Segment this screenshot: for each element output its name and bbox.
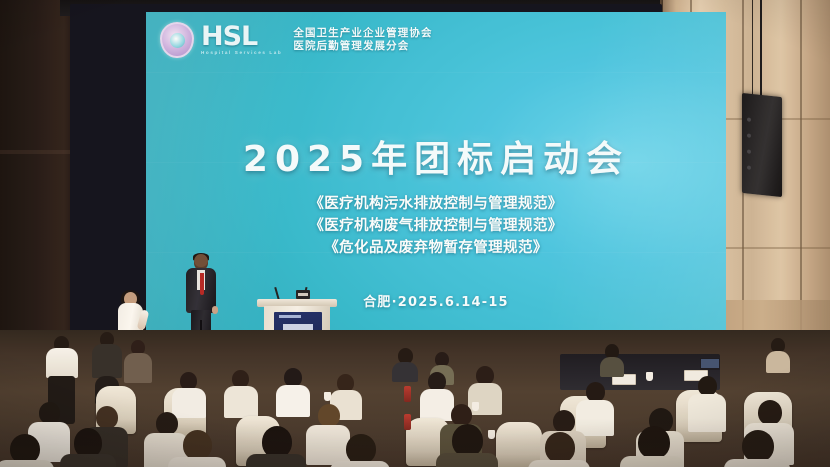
- association-line-2: 医院后勤管理发展分会: [293, 40, 432, 53]
- led-screen-frame: HSL Hospital Services Lab 全国卫生产业企业管理协会 医…: [70, 4, 662, 344]
- left-wall-sheen: [0, 150, 78, 154]
- audience-member: [436, 424, 498, 467]
- water-bottle: [404, 414, 411, 430]
- torso: [92, 344, 122, 378]
- head: [758, 400, 782, 425]
- head: [586, 382, 605, 402]
- head: [451, 404, 472, 426]
- association-line-1: 全国卫生产业企业管理协会: [293, 27, 432, 40]
- head: [553, 410, 575, 433]
- torso: [276, 385, 310, 417]
- audience-member: [620, 426, 684, 467]
- torso: [168, 457, 226, 467]
- head: [318, 404, 340, 427]
- audience-member: [224, 370, 258, 414]
- torso: [688, 394, 726, 432]
- torso: [124, 353, 152, 383]
- conference-photo: HSL Hospital Services Lab 全国卫生产业企业管理协会 医…: [0, 0, 830, 467]
- audience-member: [330, 434, 390, 467]
- audience-member: [60, 428, 116, 467]
- necktie: [200, 273, 204, 295]
- audience-member: [246, 426, 306, 467]
- torso: [392, 362, 418, 382]
- hsl-wordmark: HSL Hospital Services Lab: [201, 25, 282, 55]
- association-emblem-icon: [160, 22, 194, 58]
- torso: [436, 453, 498, 467]
- cup: [646, 372, 653, 381]
- head: [698, 376, 717, 396]
- blouse: [46, 348, 78, 378]
- torso: [60, 454, 116, 467]
- hand: [212, 306, 218, 314]
- speaker-rigging-cable: [752, 0, 753, 98]
- audience-member: [600, 344, 624, 372]
- head: [742, 430, 774, 462]
- head: [346, 434, 376, 464]
- hsl-wordmark-subtext: Hospital Services Lab: [201, 50, 282, 55]
- torso: [766, 351, 790, 373]
- torso: [330, 461, 390, 467]
- audience-member: [688, 376, 726, 430]
- water-bottle: [404, 386, 411, 402]
- audience-area: [0, 330, 830, 467]
- audience-member: [168, 430, 226, 467]
- audience-member: [0, 434, 54, 467]
- torso: [0, 460, 54, 467]
- torso: [224, 386, 258, 418]
- event-date-location: 合肥·2025.6.14-15: [146, 291, 726, 310]
- head: [545, 432, 575, 463]
- cup: [324, 392, 331, 401]
- screen-logo-row: HSL Hospital Services Lab 全国卫生产业企业管理协会 医…: [160, 22, 433, 58]
- standard-item: 《医疗机构废气排放控制与管理规范》: [146, 215, 726, 237]
- head: [638, 426, 670, 459]
- lectern-monitor: [296, 290, 310, 299]
- torso: [528, 460, 590, 467]
- audience-member: [392, 348, 418, 378]
- speaker-rigging-cable: [760, 0, 762, 98]
- torso: [724, 459, 790, 467]
- hsl-wordmark-text: HSL: [201, 25, 282, 50]
- head: [39, 402, 60, 424]
- torso: [600, 357, 624, 377]
- event-title: 2025年团标启动会: [146, 130, 726, 182]
- head: [183, 430, 212, 460]
- line-array-loudspeaker-icon: [742, 93, 782, 197]
- standard-item: 《危化品及废弃物暂存管理规范》: [146, 237, 726, 259]
- torso: [620, 456, 684, 467]
- standards-list: 《医疗机构污水排放控制与管理规范》 《医疗机构废气排放控制与管理规范》 《危化品…: [146, 193, 726, 259]
- audience-member: [766, 338, 790, 366]
- torso: [246, 454, 306, 467]
- audience-member: [276, 368, 310, 414]
- led-screen: HSL Hospital Services Lab 全国卫生产业企业管理协会 医…: [146, 12, 726, 340]
- laptop: [700, 358, 720, 370]
- audience-member: [724, 430, 790, 467]
- association-name: 全国卫生产业企业管理协会 医院后勤管理发展分会: [293, 27, 432, 54]
- standard-item: 《医疗机构污水排放控制与管理规范》: [146, 193, 726, 215]
- audience-member: [528, 432, 590, 467]
- head: [96, 406, 118, 429]
- audience-member: [172, 372, 206, 414]
